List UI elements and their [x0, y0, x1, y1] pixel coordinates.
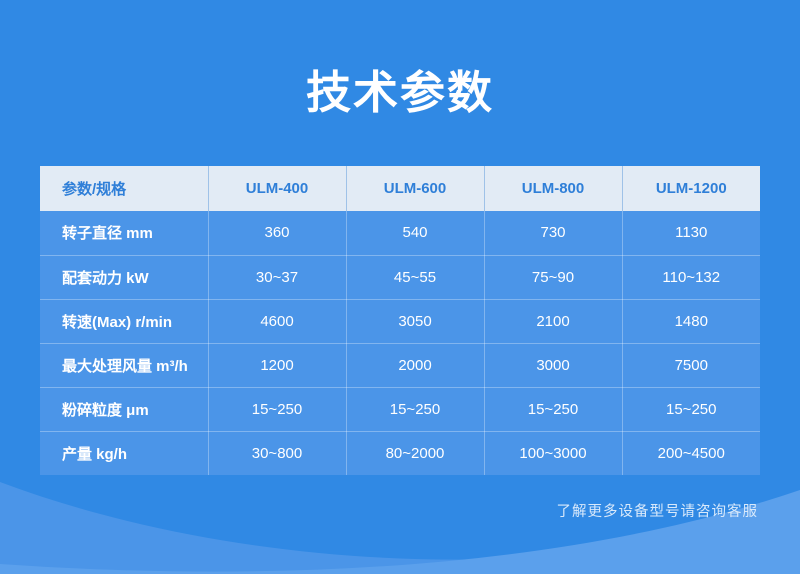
cell-value: 4600	[208, 299, 346, 343]
cell-value: 110~132	[622, 255, 760, 299]
cell-value: 45~55	[346, 255, 484, 299]
cell-value: 2100	[484, 299, 622, 343]
cell-value: 7500	[622, 343, 760, 387]
row-label-rotor-diameter: 转子直径 mm	[40, 211, 208, 255]
table-header: 参数/规格 ULM-400 ULM-600 ULM-800 ULM-1200	[40, 166, 760, 211]
cell-value: 3000	[484, 343, 622, 387]
column-header-ulm-1200: ULM-1200	[622, 166, 760, 211]
table-body: 转子直径 mm 360 540 730 1130 配套动力 kW 30~37 4…	[40, 211, 760, 475]
cell-value: 1200	[208, 343, 346, 387]
cell-value: 540	[346, 211, 484, 255]
technical-parameters-table: 参数/规格 ULM-400 ULM-600 ULM-800 ULM-1200 转…	[40, 166, 760, 475]
row-label-max-speed: 转速(Max) r/min	[40, 299, 208, 343]
cell-value: 15~250	[208, 387, 346, 431]
cell-value: 15~250	[484, 387, 622, 431]
cell-value: 730	[484, 211, 622, 255]
column-header-ulm-600: ULM-600	[346, 166, 484, 211]
cell-value: 75~90	[484, 255, 622, 299]
table-row: 产量 kg/h 30~800 80~2000 100~3000 200~4500	[40, 431, 760, 475]
wave-shape-back	[0, 482, 800, 574]
cell-value: 3050	[346, 299, 484, 343]
table-row: 配套动力 kW 30~37 45~55 75~90 110~132	[40, 255, 760, 299]
cell-value: 30~37	[208, 255, 346, 299]
column-header-ulm-800: ULM-800	[484, 166, 622, 211]
column-header-parameter: 参数/规格	[40, 166, 208, 211]
row-label-max-air-volume: 最大处理风量 m³/h	[40, 343, 208, 387]
contact-support-note: 了解更多设备型号请咨询客服	[557, 500, 759, 521]
table-row: 转子直径 mm 360 540 730 1130	[40, 211, 760, 255]
cell-value: 15~250	[346, 387, 484, 431]
table-row: 粉碎粒度 μm 15~250 15~250 15~250 15~250	[40, 387, 760, 431]
cell-value: 2000	[346, 343, 484, 387]
table-row: 最大处理风量 m³/h 1200 2000 3000 7500	[40, 343, 760, 387]
cell-value: 100~3000	[484, 431, 622, 475]
table-header-row: 参数/规格 ULM-400 ULM-600 ULM-800 ULM-1200	[40, 166, 760, 211]
column-header-ulm-400: ULM-400	[208, 166, 346, 211]
cell-value: 1480	[622, 299, 760, 343]
row-label-matched-power: 配套动力 kW	[40, 255, 208, 299]
cell-value: 1130	[622, 211, 760, 255]
table-row: 转速(Max) r/min 4600 3050 2100 1480	[40, 299, 760, 343]
cell-value: 200~4500	[622, 431, 760, 475]
cell-value: 360	[208, 211, 346, 255]
row-label-particle-size: 粉碎粒度 μm	[40, 387, 208, 431]
row-label-output: 产量 kg/h	[40, 431, 208, 475]
cell-value: 80~2000	[346, 431, 484, 475]
cell-value: 30~800	[208, 431, 346, 475]
cell-value: 15~250	[622, 387, 760, 431]
page-title: 技术参数	[0, 68, 800, 118]
